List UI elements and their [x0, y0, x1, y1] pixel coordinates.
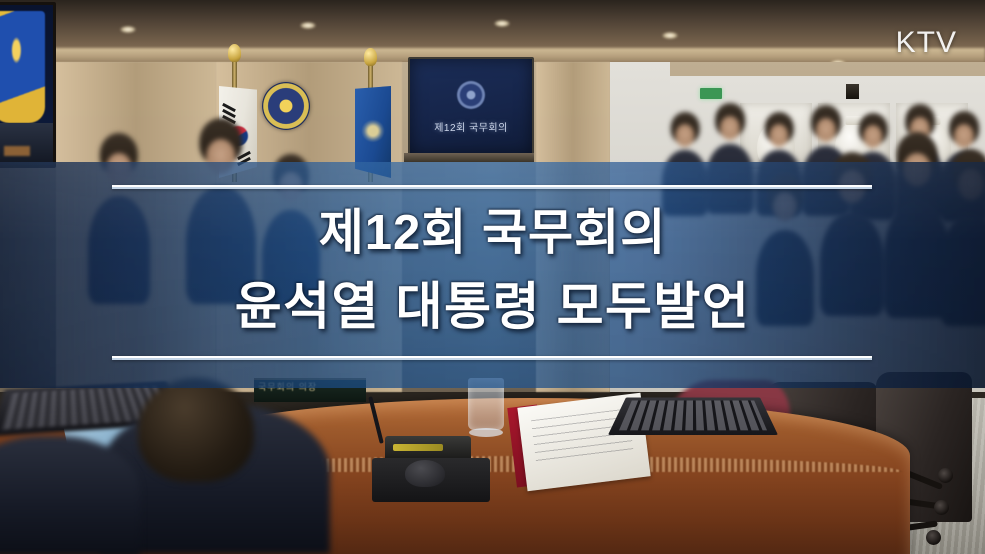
ceiling-downlight — [120, 26, 136, 33]
projection-screen-caption: 제12회 국무회의 — [434, 119, 508, 134]
presidential-flag-display-screen — [0, 2, 56, 168]
flag-finial — [364, 48, 377, 66]
government-emblem — [262, 82, 310, 130]
computer-mouse — [405, 460, 445, 487]
ceiling-downlight — [300, 22, 316, 29]
chair-wheel — [938, 468, 953, 483]
ceiling-downlight — [662, 32, 678, 39]
presidential-flag-image — [0, 11, 45, 123]
title-line-1: 제12회 국무회의 — [0, 196, 985, 270]
laptop-keyboard — [608, 397, 778, 434]
foreground-person — [0, 436, 140, 554]
wall-speaker — [846, 84, 859, 99]
exit-sign — [700, 88, 722, 99]
title-block: 제12회 국무회의 윤석열 대통령 모두발언 — [0, 196, 985, 344]
broadcast-title-card: 제12회 국무회의 — [0, 0, 985, 554]
ceiling-downlight — [494, 20, 510, 27]
channel-logo: KTV — [896, 26, 957, 60]
title-rule-bottom — [112, 356, 872, 360]
screen-shelf — [404, 153, 534, 162]
screen-emblem-icon — [457, 81, 485, 109]
projection-screen: 제12회 국무회의 — [408, 57, 534, 157]
foreground-person-head — [138, 378, 254, 482]
title-rule-top — [112, 185, 872, 189]
screen-lower-image — [0, 123, 53, 165]
chair-wheel — [926, 530, 941, 545]
chair-wheel — [934, 500, 949, 515]
flag-finial — [228, 44, 241, 62]
title-line-2: 윤석열 대통령 모두발언 — [0, 270, 985, 344]
